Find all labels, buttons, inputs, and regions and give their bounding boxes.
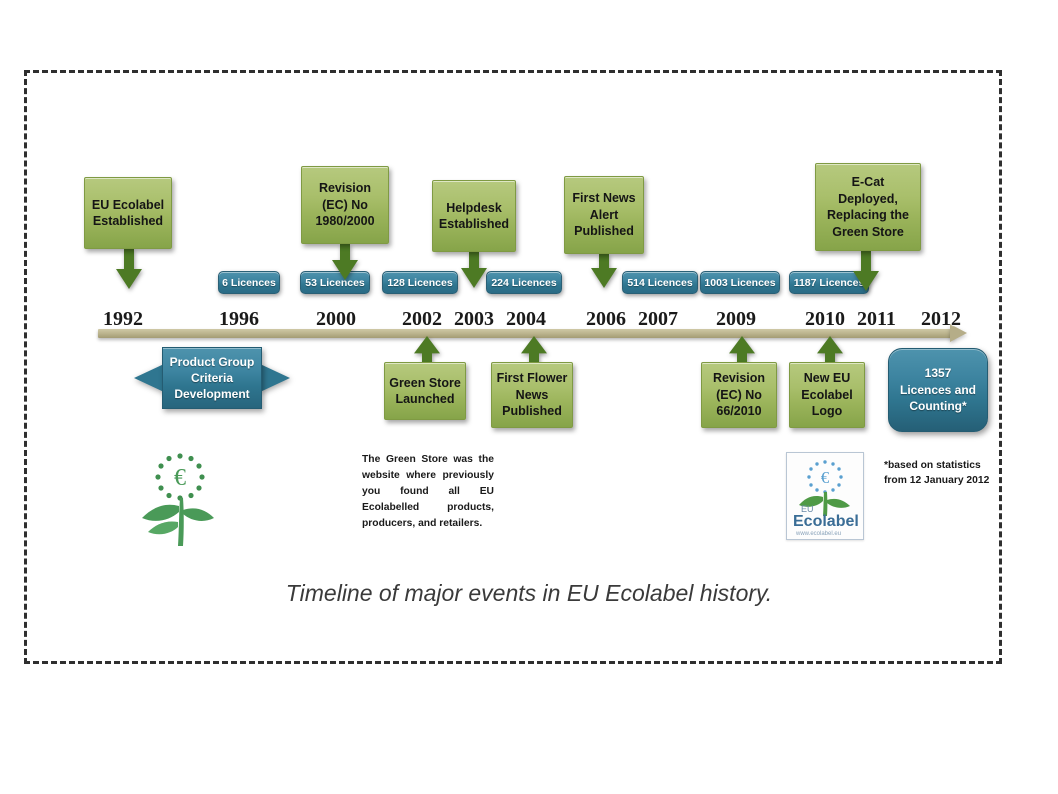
text-line: Development	[170, 386, 255, 402]
eu-ecolabel-flower-icon: €	[134, 444, 226, 548]
new-eu-ecolabel-logo-box: New EUEcolabelLogo	[789, 362, 865, 428]
ecolabel-url: www.ecolabel.eu	[795, 531, 841, 537]
year-label-2002: 2002	[402, 308, 442, 331]
timeline-diagram: 1992199620002002200320042006200720092010…	[0, 0, 1058, 794]
product-group-criteria-development-label: Product GroupCriteriaDevelopment	[162, 347, 262, 409]
year-label-2011: 2011	[857, 308, 896, 331]
text-line: (EC) No	[706, 387, 772, 404]
eu-ecolabel-established-box: EU EcolabelEstablished	[84, 177, 172, 249]
text-line: Ecolabel	[794, 387, 860, 404]
licence-badge: 224 Licences	[486, 271, 562, 294]
product-group-criteria-development-box: Product GroupCriteriaDevelopment	[134, 347, 290, 409]
revision-1980-2000-label: Revision(EC) No1980/2000	[306, 180, 384, 230]
text-line: Counting*	[900, 398, 976, 415]
year-label-2012: 2012	[921, 308, 961, 331]
revision-66-2010-box: Revision(EC) No66/2010	[701, 362, 777, 428]
text-line: Criteria	[170, 370, 255, 386]
text-line: Logo	[794, 403, 860, 420]
year-label-1992: 1992	[103, 308, 143, 331]
text-line: First Flower	[496, 370, 568, 387]
first-flower-news-published-box: First FlowerNewsPublished	[491, 362, 573, 428]
text-line: Replacing the	[820, 207, 916, 224]
text-line: Green Store	[820, 224, 916, 241]
text-line: Licences and	[900, 382, 976, 399]
licence-badge: 1003 Licences	[700, 271, 780, 294]
first-news-alert-published-box: First NewsAlertPublished	[564, 176, 644, 254]
text-line: Published	[569, 223, 639, 240]
text-line: Launched	[389, 391, 461, 408]
helpdesk-established-label: HelpdeskEstablished	[437, 200, 511, 233]
text-line: News	[496, 387, 568, 404]
text-line: 1980/2000	[306, 213, 384, 230]
text-line: Published	[496, 403, 568, 420]
year-label-2004: 2004	[506, 308, 546, 331]
text-line: Green Store	[389, 375, 461, 392]
year-label-2006: 2006	[586, 308, 626, 331]
text-line: Helpdesk	[437, 200, 511, 217]
first-news-alert-published-label: First NewsAlertPublished	[569, 190, 639, 240]
footnote: *based on statistics from 12 January 201…	[884, 458, 1014, 489]
text-line: First News	[569, 190, 639, 207]
text-line: EU Ecolabel	[89, 197, 167, 214]
text-line: Revision	[306, 180, 384, 197]
year-label-2007: 2007	[638, 308, 678, 331]
text-line: Revision	[706, 370, 772, 387]
left-arrow-icon	[134, 364, 164, 392]
e-cat-deployed-label: E-CatDeployed,Replacing theGreen Store	[820, 174, 916, 240]
text-line: Established	[89, 213, 167, 230]
licence-badge: 6 Licences	[218, 271, 280, 294]
svg-text:€: €	[174, 465, 186, 491]
text-line: (EC) No	[306, 197, 384, 214]
year-label-2000: 2000	[316, 308, 356, 331]
right-arrow-icon	[260, 364, 290, 392]
eu-ecolabel-established-label: EU EcolabelEstablished	[89, 197, 167, 230]
text-line: New EU	[794, 370, 860, 387]
text-line: Alert	[569, 207, 639, 224]
text-line: Product Group	[170, 354, 255, 370]
footnote-line-2: from 12 January 2012	[884, 473, 1014, 488]
text-line: Deployed,	[820, 191, 916, 208]
footnote-line-1: *based on statistics	[884, 458, 1014, 473]
ecolabel-text: Ecolabel	[793, 513, 859, 530]
first-flower-news-published-label: First FlowerNewsPublished	[496, 370, 568, 420]
licence-badge: 128 Licences	[382, 271, 458, 294]
text-line: E-Cat	[820, 174, 916, 191]
revision-66-2010-label: Revision(EC) No66/2010	[706, 370, 772, 420]
licence-badge: 514 Licences	[622, 271, 698, 294]
diagram-caption: Timeline of major events in EU Ecolabel …	[0, 580, 1058, 607]
revision-1980-2000-box: Revision(EC) No1980/2000	[301, 166, 389, 244]
green-store-note: The Green Store was the website where pr…	[362, 452, 494, 532]
text-line: Established	[437, 216, 511, 233]
green-store-launched-box: Green StoreLaunched	[384, 362, 466, 420]
year-label-1996: 1996	[219, 308, 259, 331]
e-cat-deployed-box: E-CatDeployed,Replacing theGreen Store	[815, 163, 921, 251]
year-label-2010: 2010	[805, 308, 845, 331]
euro-symbol: €	[821, 468, 830, 487]
year-label-2009: 2009	[716, 308, 756, 331]
eu-ecolabel-logo: € EU Ecolabel www.ecolabel.eu	[786, 452, 864, 540]
helpdesk-established-box: HelpdeskEstablished	[432, 180, 516, 252]
text-line: 66/2010	[706, 403, 772, 420]
green-store-launched-label: Green StoreLaunched	[389, 375, 461, 408]
text-line: 1357	[900, 365, 976, 382]
licences-and-counting-box: 1357Licences andCounting*	[888, 348, 988, 432]
new-eu-ecolabel-logo-label: New EUEcolabelLogo	[794, 370, 860, 420]
year-label-2003: 2003	[454, 308, 494, 331]
